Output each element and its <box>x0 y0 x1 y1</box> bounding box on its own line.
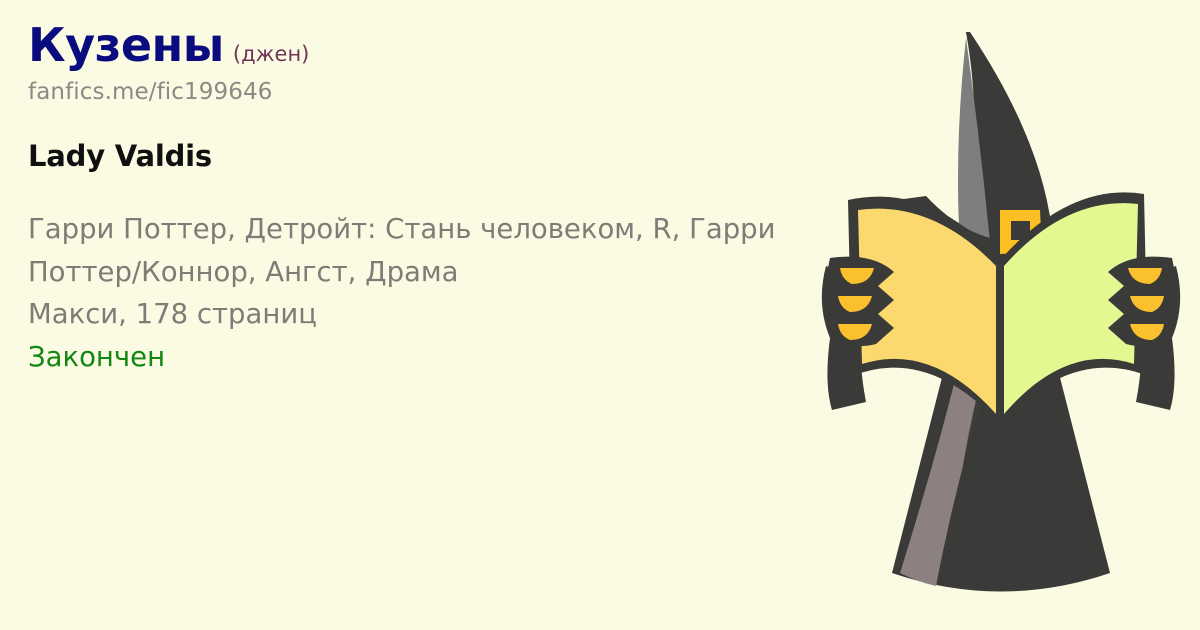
fic-url[interactable]: fanfics.me/fic199646 <box>28 81 828 104</box>
text-column: Кузены (джен) fanfics.me/fic199646 Lady … <box>28 22 828 379</box>
title-row: Кузены (джен) <box>28 22 828 68</box>
author-name[interactable]: Lady Valdis <box>28 142 828 171</box>
left-hand <box>822 257 894 410</box>
wizard-reading-book-illustration <box>808 28 1194 608</box>
fic-metadata: Гарри Поттер, Детройт: Стань человеком, … <box>28 208 818 379</box>
status-badge: Закончен <box>28 336 818 379</box>
fic-category-label: (джен) <box>233 44 309 65</box>
fic-tags: Гарри Поттер, Детройт: Стань человеком, … <box>28 208 818 293</box>
page-title: Кузены <box>28 22 224 68</box>
fanfic-preview-card: Кузены (джен) fanfics.me/fic199646 Lady … <box>0 0 1200 630</box>
fic-size: Макси, 178 страниц <box>28 293 818 336</box>
right-hand <box>1108 257 1180 410</box>
